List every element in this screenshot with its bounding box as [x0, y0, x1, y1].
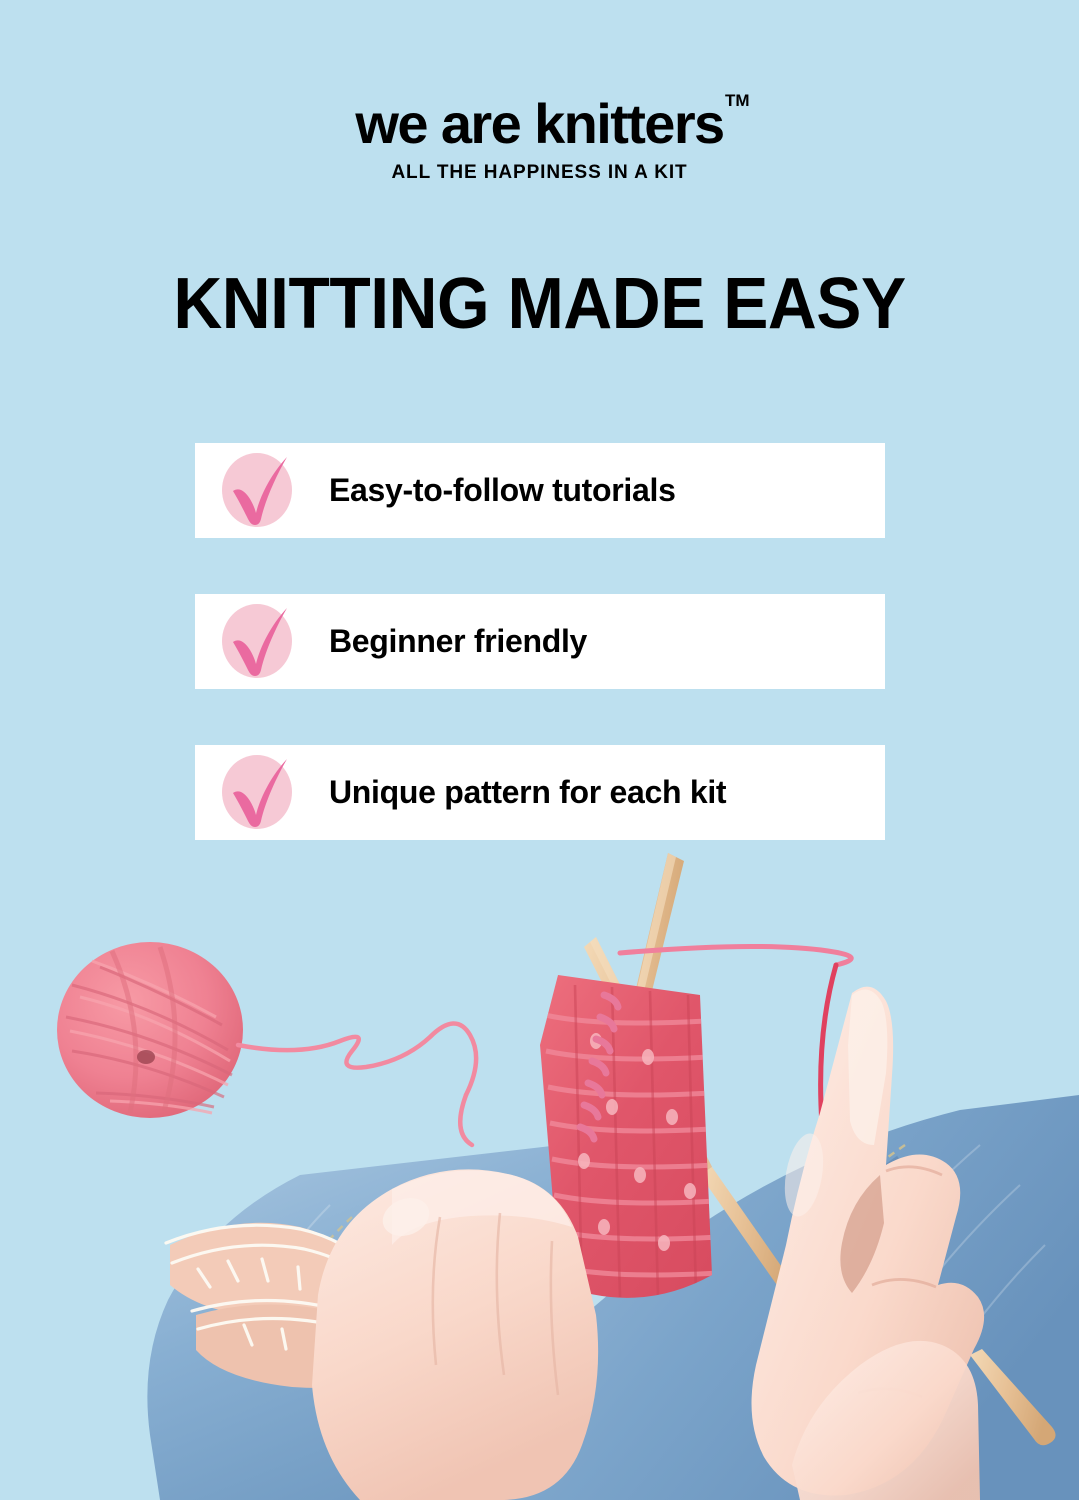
hero-photo: [0, 845, 1079, 1500]
feature-label: Beginner friendly: [329, 623, 587, 660]
feature-list: Easy-to-follow tutorials Beginner friend…: [195, 443, 885, 896]
left-hand: [312, 1169, 598, 1500]
brand-logo: we are knitters TM ALL THE HAPPINESS IN …: [0, 96, 1079, 184]
feature-card: Unique pattern for each kit: [195, 745, 885, 840]
page-title: KNITTING MADE EASY: [32, 268, 1046, 340]
feature-label: Easy-to-follow tutorials: [329, 472, 676, 509]
check-icon: [217, 745, 303, 840]
brand-tagline: ALL THE HAPPINESS IN A KIT: [0, 162, 1079, 184]
trademark-symbol: TM: [725, 92, 750, 109]
check-icon: [217, 594, 303, 689]
feature-card: Easy-to-follow tutorials: [195, 443, 885, 538]
brand-name-text: we are knitters: [355, 92, 723, 155]
poster-canvas: we are knitters TM ALL THE HAPPINESS IN …: [0, 0, 1079, 1500]
brand-name: we are knitters TM: [355, 96, 723, 152]
feature-label: Unique pattern for each kit: [329, 774, 726, 811]
yarn-ball: [57, 942, 243, 1118]
check-icon: [217, 443, 303, 538]
feature-card: Beginner friendly: [195, 594, 885, 689]
